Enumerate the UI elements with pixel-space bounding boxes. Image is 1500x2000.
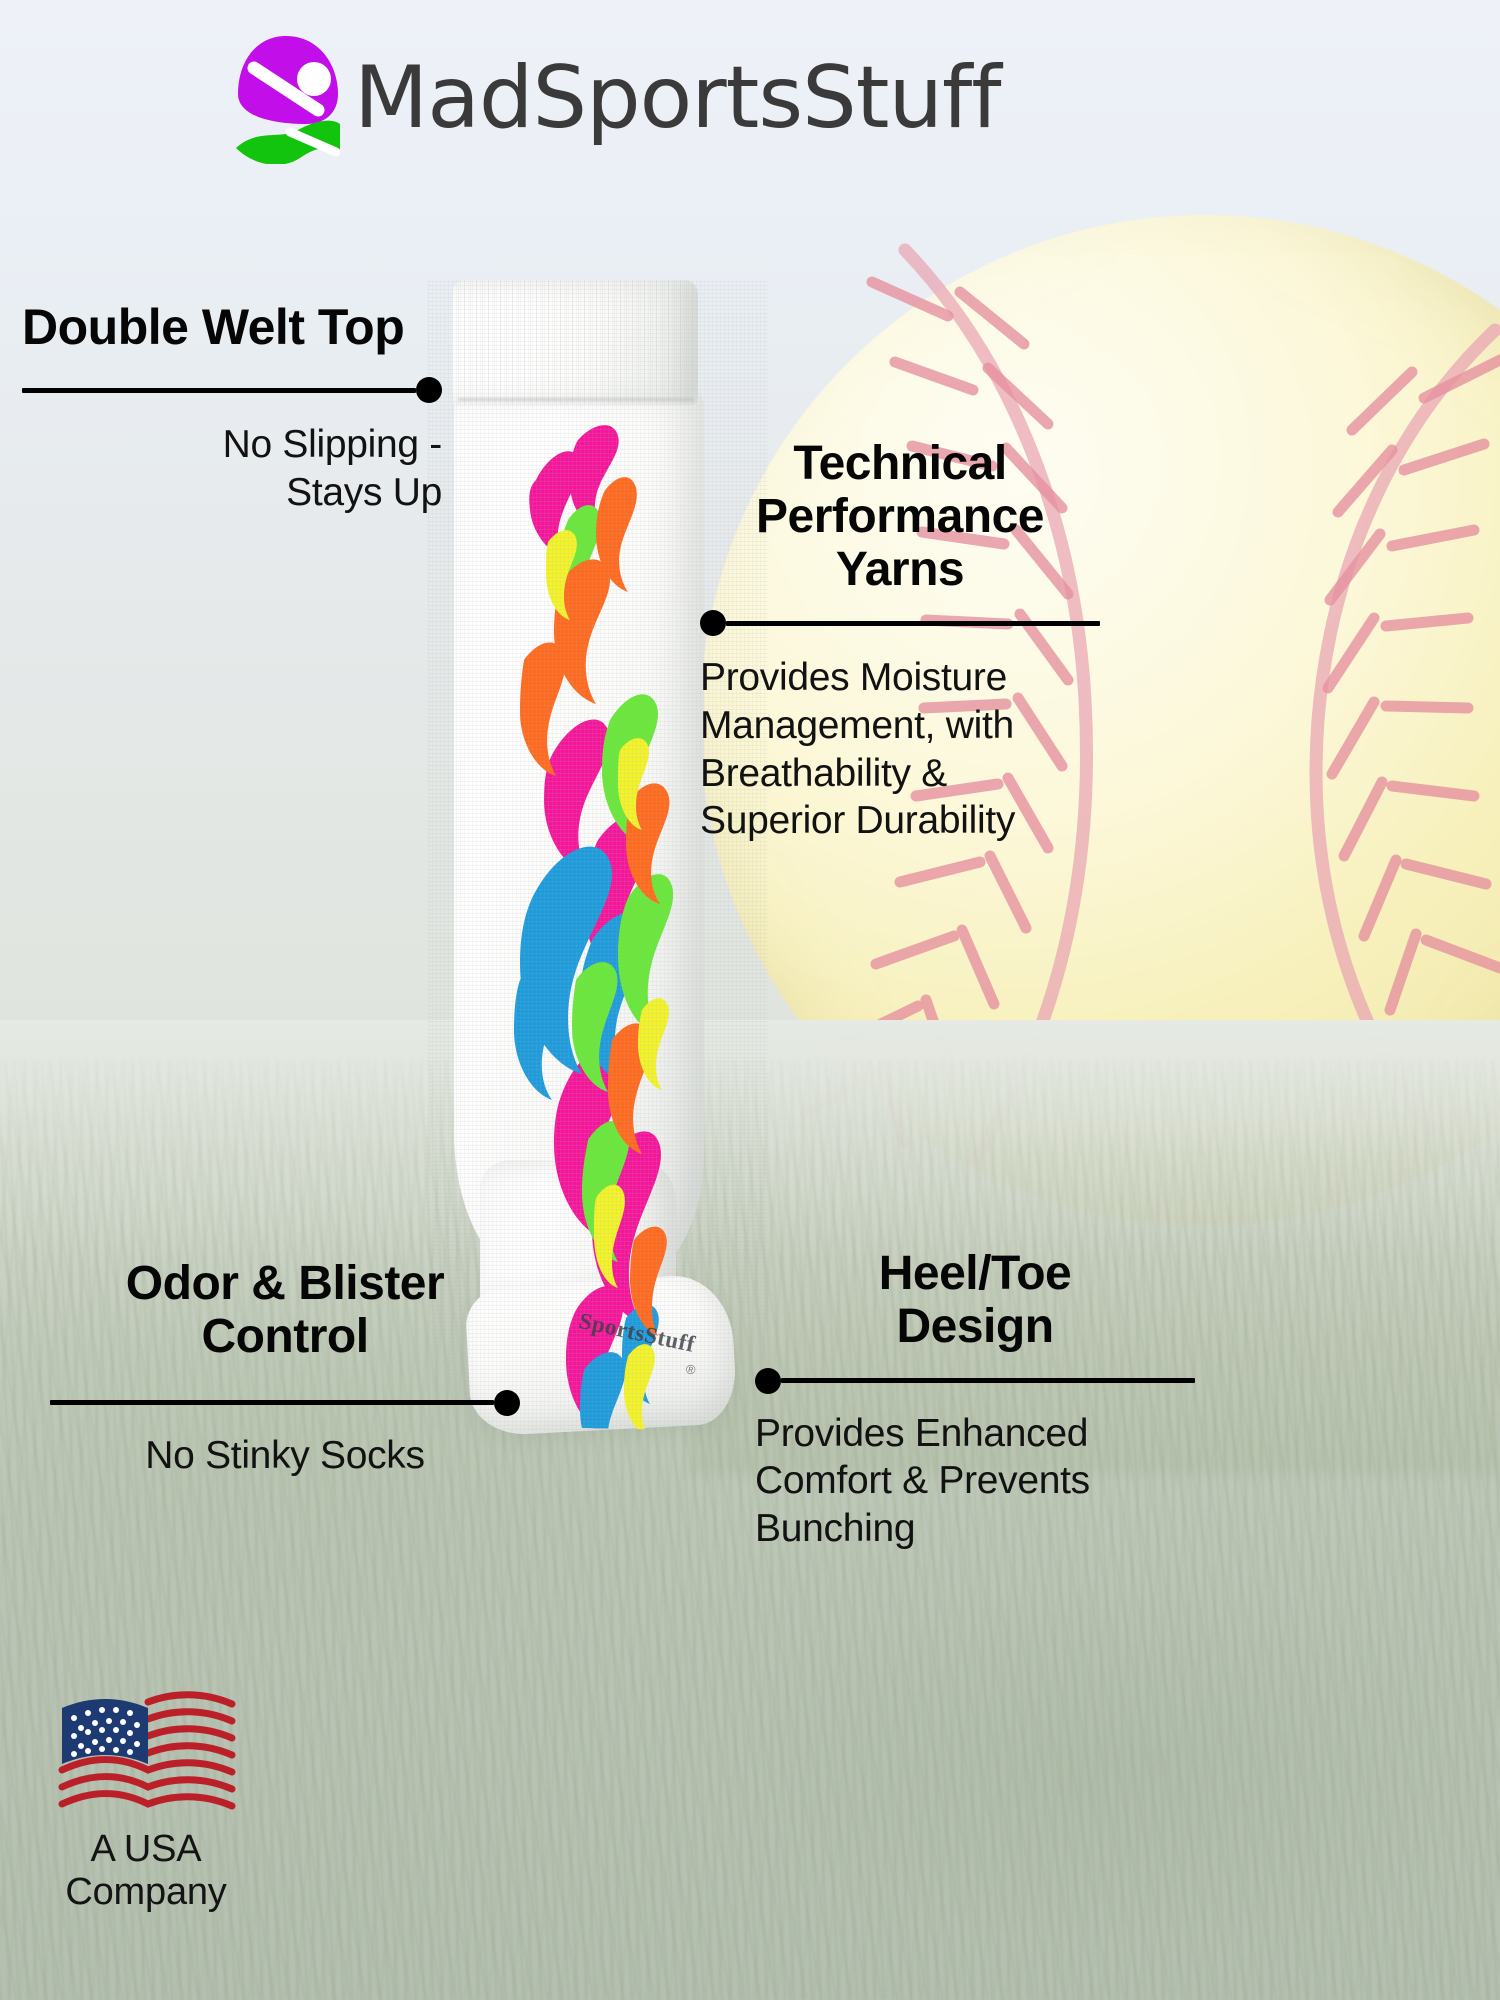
rule-dot bbox=[416, 377, 442, 403]
rule-dot bbox=[700, 610, 726, 636]
infographic-canvas: MadSportsStuff bbox=[0, 0, 1500, 2000]
usa-company-caption: A USA Company bbox=[52, 1828, 240, 1913]
usa-flag-icon bbox=[52, 1690, 240, 1818]
callout-heading-double-welt-top: Double Welt Top bbox=[22, 300, 442, 355]
callout-body-double-welt-top: No Slipping - Stays Up bbox=[22, 421, 442, 516]
callout-body-technical-performance-yarns: Provides Moisture Management, with Breat… bbox=[700, 654, 1100, 844]
rule-line bbox=[781, 1378, 1195, 1383]
rule-dot bbox=[755, 1368, 781, 1394]
callout-heel-toe-design: Heel/Toe Design Provides Enhanced Comfor… bbox=[755, 1248, 1195, 1552]
sock-welt-seam bbox=[458, 398, 694, 401]
rule-line bbox=[726, 621, 1100, 626]
sock-cuff-ribbing bbox=[452, 280, 698, 405]
rule-dot bbox=[494, 1390, 520, 1416]
callout-rule-technical-performance-yarns bbox=[700, 610, 1100, 636]
callout-heading-heel-toe-design: Heel/Toe Design bbox=[755, 1248, 1195, 1354]
callout-rule-heel-toe-design bbox=[755, 1368, 1195, 1394]
brand-logo-text: MadSportsStuff bbox=[354, 55, 1001, 141]
callout-heading-technical-performance-yarns: Technical Performance Yarns bbox=[700, 438, 1100, 596]
callout-rule-odor-blister-control bbox=[50, 1390, 520, 1416]
rule-line bbox=[50, 1400, 494, 1405]
callout-heading-odor-blister-control: Odor & Blister Control bbox=[50, 1258, 520, 1364]
callout-body-odor-blister-control: No Stinky Socks bbox=[50, 1432, 520, 1480]
brand-logo: MadSportsStuff bbox=[232, 28, 952, 168]
usa-company-badge: A USA Company bbox=[52, 1690, 312, 1913]
rule-line bbox=[22, 388, 416, 393]
callout-odor-blister-control: Odor & Blister Control No Stinky Socks bbox=[50, 1258, 520, 1479]
callout-rule-double-welt-top bbox=[22, 377, 442, 403]
callout-body-heel-toe-design: Provides Enhanced Comfort & Prevents Bun… bbox=[755, 1410, 1195, 1553]
callout-technical-performance-yarns: Technical Performance Yarns Provides Moi… bbox=[700, 438, 1100, 845]
callout-double-welt-top: Double Welt Top No Slipping - Stays Up bbox=[22, 300, 442, 516]
madsportsstuff-athlete-logo bbox=[232, 32, 340, 164]
